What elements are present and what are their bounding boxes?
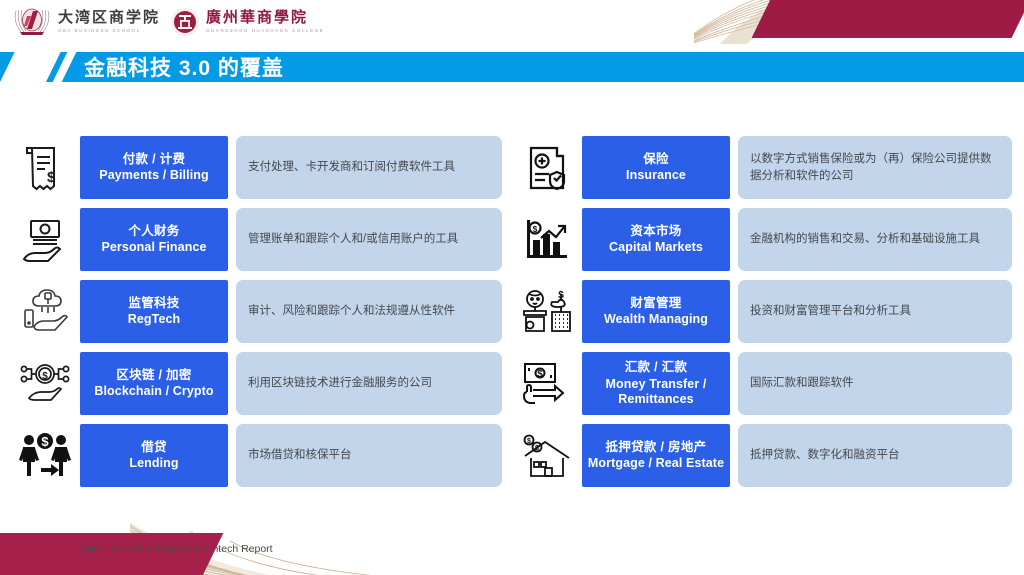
two-people-money-icon: $ bbox=[10, 424, 80, 487]
category-label-cn: 付款 / 计费 bbox=[123, 152, 186, 168]
logo-huashang-cn: 廣州華商學院 bbox=[206, 11, 324, 26]
category-label-en: Capital Markets bbox=[609, 240, 703, 255]
category-row[interactable]: $ 付款 / 计费 Payments / Billing 支付处理、卡开发商和订… bbox=[10, 136, 512, 199]
category-row[interactable]: 保险 Insurance 以数字方式销售保险或为（再）保险公司提供数据分析和软件… bbox=[512, 136, 1014, 199]
category-description: 支付处理、卡开发商和订阅付费软件工具 bbox=[236, 136, 502, 199]
category-label-cn: 资本市场 bbox=[630, 224, 681, 240]
category-label-cn: 借贷 bbox=[141, 440, 167, 456]
receipt-dollar-icon: $ bbox=[10, 136, 80, 199]
category-column-right: 保险 Insurance 以数字方式销售保险或为（再）保险公司提供数据分析和软件… bbox=[512, 136, 1014, 496]
category-row[interactable]: $ 汇款 / 汇款 Money Transfer / Remittances 国… bbox=[512, 352, 1014, 415]
category-label-en: Wealth Managing bbox=[604, 312, 708, 327]
svg-text:$: $ bbox=[537, 369, 543, 380]
category-label-cn: 保险 bbox=[643, 152, 669, 168]
category-label[interactable]: 资本市场 Capital Markets bbox=[582, 208, 730, 271]
category-label[interactable]: 财富管理 Wealth Managing bbox=[582, 280, 730, 343]
category-description: 以数字方式销售保险或为（再）保险公司提供数据分析和软件的公司 bbox=[738, 136, 1012, 199]
logo-gba: 大湾区商学院 GBA BUSINESS SCHOOL bbox=[12, 5, 160, 39]
category-label-en: RegTech bbox=[128, 312, 181, 327]
svg-text:$: $ bbox=[535, 445, 539, 452]
category-label-cn: 区块链 / 加密 bbox=[116, 368, 191, 384]
logo-huashang-en: GUANGZHOU HUASHANG COLLEGE bbox=[206, 29, 324, 33]
header-logos: 大湾区商学院 GBA BUSINESS SCHOOL 廣州華商學院 G bbox=[0, 0, 1024, 44]
category-label[interactable]: 个人财务 Personal Finance bbox=[80, 208, 228, 271]
category-label-cn: 汇款 / 汇款 bbox=[625, 360, 688, 376]
category-description: 管理账单和跟踪个人和/或信用账户的工具 bbox=[236, 208, 502, 271]
category-label-cn: 抵押贷款 / 房地产 bbox=[606, 440, 707, 456]
gba-crest-icon bbox=[12, 5, 52, 39]
hand-cloud-lock-icon bbox=[10, 280, 80, 343]
category-description: 利用区块链技术进行金融服务的公司 bbox=[236, 352, 502, 415]
blockchain-coin-icon: $ bbox=[10, 352, 80, 415]
house-coins-icon: $ $ bbox=[512, 424, 582, 487]
money-transfer-hand-icon: $ bbox=[512, 352, 582, 415]
category-grid: $ 付款 / 计费 Payments / Billing 支付处理、卡开发商和订… bbox=[0, 136, 1024, 496]
category-label-cn: 监管科技 bbox=[128, 296, 179, 312]
category-row[interactable]: $ 财富管理 Wealth Managing 投资和财富管理平台和分析工具 bbox=[512, 280, 1014, 343]
category-row[interactable]: $ $ 抵押贷款 / 房地产 Mortgage / Real Estate 抵押… bbox=[512, 424, 1014, 487]
title-bar: 金融科技 3.0 的覆盖 bbox=[0, 52, 1024, 82]
category-row[interactable]: $ 借贷 Lending 市场借贷和核保平台 bbox=[10, 424, 512, 487]
category-label-cn: 个人财务 bbox=[128, 224, 179, 240]
category-label[interactable]: 借贷 Lending bbox=[80, 424, 228, 487]
category-description: 市场借贷和核保平台 bbox=[236, 424, 502, 487]
category-row[interactable]: 个人财务 Personal Finance 管理账单和跟踪个人和/或信用账户的工… bbox=[10, 208, 512, 271]
category-label[interactable]: 汇款 / 汇款 Money Transfer / Remittances bbox=[582, 352, 730, 415]
category-description: 投资和财富管理平台和分析工具 bbox=[738, 280, 1012, 343]
category-label-en: Lending bbox=[129, 456, 178, 471]
huashang-seal-icon bbox=[170, 7, 200, 37]
hand-cash-icon bbox=[10, 208, 80, 271]
category-description: 金融机构的销售和交易、分析和基础设施工具 bbox=[738, 208, 1012, 271]
category-label[interactable]: 抵押贷款 / 房地产 Mortgage / Real Estate bbox=[582, 424, 730, 487]
category-label[interactable]: 区块链 / 加密 Blockchain / Crypto bbox=[80, 352, 228, 415]
category-label[interactable]: 付款 / 计费 Payments / Billing bbox=[80, 136, 228, 199]
category-label-en: Blockchain / Crypto bbox=[94, 384, 213, 399]
category-label-cn: 财富管理 bbox=[630, 296, 681, 312]
category-label-en: Money Transfer / Remittances bbox=[586, 377, 726, 407]
category-row[interactable]: 监管科技 RegTech 审计、风险和跟踪个人和法规遵从性软件 bbox=[10, 280, 512, 343]
svg-text:$: $ bbox=[47, 169, 56, 186]
bar-chart-arrow-icon: $ bbox=[512, 208, 582, 271]
svg-text:$: $ bbox=[42, 371, 48, 382]
category-row[interactable]: $ 区块链 / 加密 Blockchain / Crypto 利用区块链技术进行… bbox=[10, 352, 512, 415]
svg-text:$: $ bbox=[558, 290, 564, 301]
page-title: 金融科技 3.0 的覆盖 bbox=[84, 52, 284, 82]
logo-gba-cn: 大湾区商学院 bbox=[58, 11, 160, 26]
logo-gba-en: GBA BUSINESS SCHOOL bbox=[58, 29, 160, 33]
insurance-document-shield-icon bbox=[512, 136, 582, 199]
svg-text:$: $ bbox=[533, 225, 538, 234]
svg-text:$: $ bbox=[41, 434, 49, 449]
category-description: 抵押贷款、数字化和融资平台 bbox=[738, 424, 1012, 487]
category-label-en: Payments / Billing bbox=[99, 168, 208, 183]
slide-root: 大湾区商学院 GBA BUSINESS SCHOOL 廣州華商學院 G bbox=[0, 0, 1024, 575]
category-label-en: Insurance bbox=[626, 168, 686, 183]
source-note: Note: Source: CB Insights Fintech Report bbox=[80, 543, 273, 555]
advisor-money-plant-icon: $ bbox=[512, 280, 582, 343]
logo-huashang: 廣州華商學院 GUANGZHOU HUASHANG COLLEGE bbox=[170, 7, 324, 37]
category-row[interactable]: $ 资本市场 Capital Markets 金融机构的销售和交易、分析和基础设… bbox=[512, 208, 1014, 271]
category-label-en: Personal Finance bbox=[101, 240, 206, 255]
category-label-en: Mortgage / Real Estate bbox=[588, 456, 724, 471]
category-column-left: $ 付款 / 计费 Payments / Billing 支付处理、卡开发商和订… bbox=[10, 136, 512, 496]
svg-text:$: $ bbox=[527, 438, 531, 445]
category-label[interactable]: 监管科技 RegTech bbox=[80, 280, 228, 343]
category-label[interactable]: 保险 Insurance bbox=[582, 136, 730, 199]
category-description: 国际汇款和跟踪软件 bbox=[738, 352, 1012, 415]
category-description: 审计、风险和跟踪个人和法规遵从性软件 bbox=[236, 280, 502, 343]
